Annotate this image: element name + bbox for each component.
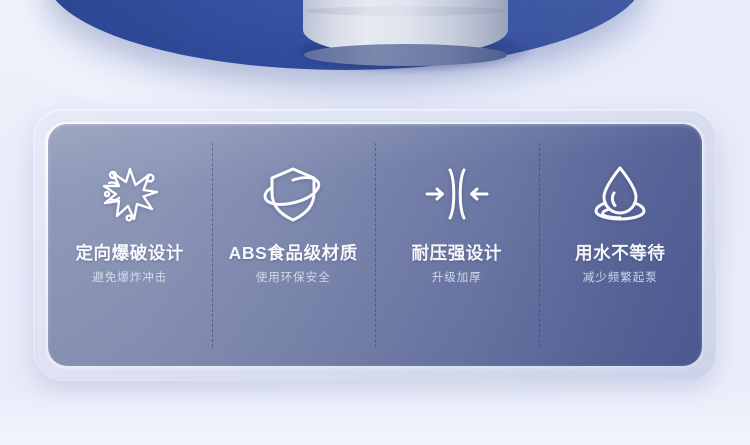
explosion-burst-icon <box>93 157 167 231</box>
cylinder-base-rim <box>304 44 507 66</box>
feature-item-water-ready[interactable]: 用水不等待 减少频繁起泵 <box>539 124 703 366</box>
feature-subtitle: 使用环保安全 <box>256 273 331 285</box>
feature-title: 定向爆破设计 <box>75 245 184 263</box>
shield-orbit-icon <box>256 157 330 231</box>
feature-title: 耐压强设计 <box>412 245 503 263</box>
feature-panel: 定向爆破设计 避免爆炸冲击 ABS食品级材质 使用环保安全 <box>48 124 702 366</box>
feature-subtitle: 升级加厚 <box>432 273 482 285</box>
product-feature-banner: 定向爆破设计 避免爆炸冲击 ABS食品级材质 使用环保安全 <box>0 0 750 445</box>
feature-subtitle: 避免爆炸冲击 <box>92 273 167 285</box>
cylinder-seam <box>306 6 505 16</box>
feature-title: ABS食品级材质 <box>229 245 358 263</box>
pressure-arrows-icon <box>420 157 494 231</box>
water-drop-ripple-icon <box>583 157 657 231</box>
hero-product-scene <box>0 0 750 120</box>
feature-item-abs-material[interactable]: ABS食品级材质 使用环保安全 <box>212 124 376 366</box>
feature-card-inner-ring: 定向爆破设计 避免爆炸冲击 ABS食品级材质 使用环保安全 <box>44 120 706 370</box>
feature-item-explosion[interactable]: 定向爆破设计 避免爆炸冲击 <box>48 124 212 366</box>
feature-item-pressure[interactable]: 耐压强设计 升级加厚 <box>375 124 539 366</box>
feature-subtitle: 减少频繁起泵 <box>583 273 658 285</box>
bottom-fade <box>0 389 750 445</box>
feature-card-frame: 定向爆破设计 避免爆炸冲击 ABS食品级材质 使用环保安全 <box>33 109 717 381</box>
feature-title: 用水不等待 <box>575 245 666 263</box>
